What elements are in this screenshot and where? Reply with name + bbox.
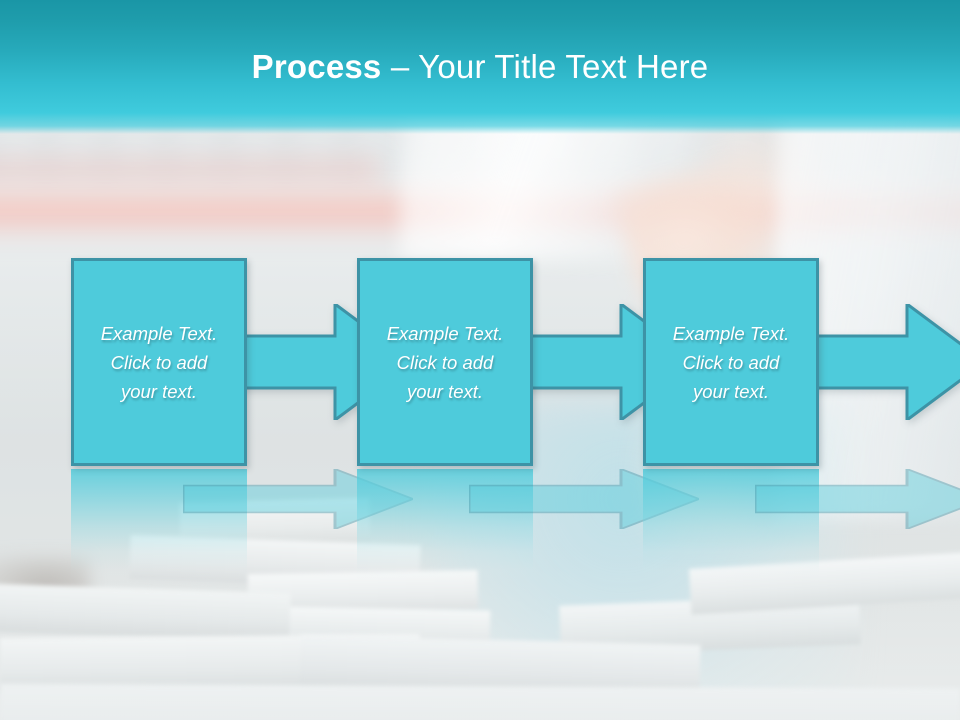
- step-box-reflection: [71, 469, 247, 581]
- step-text: Example Text. Click to add your text.: [377, 319, 514, 406]
- slide-canvas: Process – Your Title Text Here Example T…: [0, 0, 960, 720]
- step-arrow-reflection: [755, 469, 960, 529]
- step-box[interactable]: Example Text. Click to add your text.: [643, 258, 819, 466]
- step-text: Example Text. Click to add your text.: [91, 319, 228, 406]
- step-box[interactable]: Example Text. Click to add your text.: [357, 258, 533, 466]
- step-arrow-reflection: [183, 469, 413, 529]
- step-box-reflection: [643, 469, 819, 581]
- step-box[interactable]: Example Text. Click to add your text.: [71, 258, 247, 466]
- process-diagram: Example Text. Click to add your text. Ex…: [0, 0, 960, 720]
- step-text: Example Text. Click to add your text.: [663, 319, 800, 406]
- step-box-reflection: [357, 469, 533, 581]
- step-arrow-reflection: [469, 469, 699, 529]
